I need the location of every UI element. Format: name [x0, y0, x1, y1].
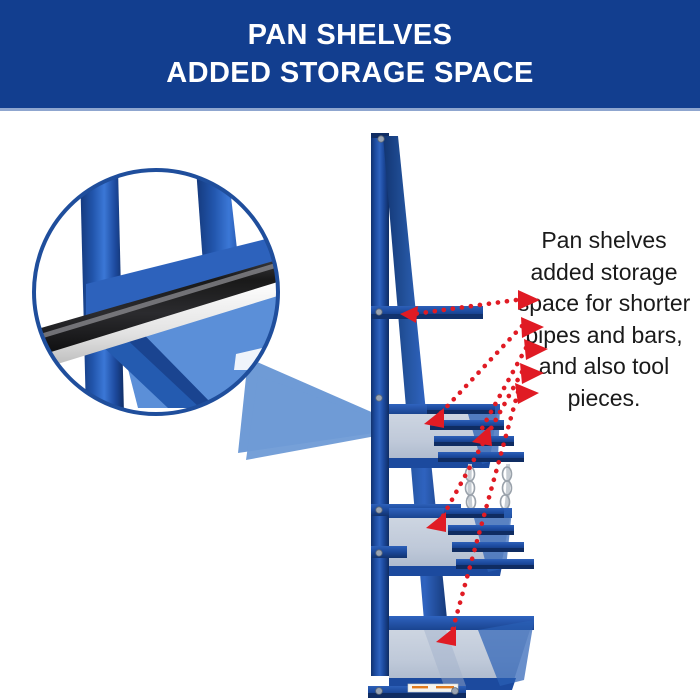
pan-shelf-bottom	[389, 616, 534, 690]
rack-vertical-post	[371, 133, 389, 676]
banner-title-line-1: PAN SHELVES	[248, 16, 453, 54]
infographic-page: PAN SHELVES ADDED STORAGE SPACE Pan shel…	[0, 0, 700, 700]
rack-diagonal-brace	[383, 136, 452, 668]
arrowhead-right-3	[524, 339, 548, 360]
product-illustration	[0, 108, 700, 700]
arrow-line-2	[440, 326, 522, 414]
header-banner: PAN SHELVES ADDED STORAGE SPACE	[0, 0, 700, 108]
arrowhead-right-4	[520, 363, 544, 384]
arrowhead-right-2	[521, 317, 544, 338]
banner-title-line-2: ADDED STORAGE SPACE	[166, 54, 533, 92]
warning-label	[408, 684, 458, 692]
arrowhead-right-1	[518, 290, 540, 310]
arrowhead-right-5	[515, 383, 539, 404]
storage-rack	[368, 133, 534, 698]
